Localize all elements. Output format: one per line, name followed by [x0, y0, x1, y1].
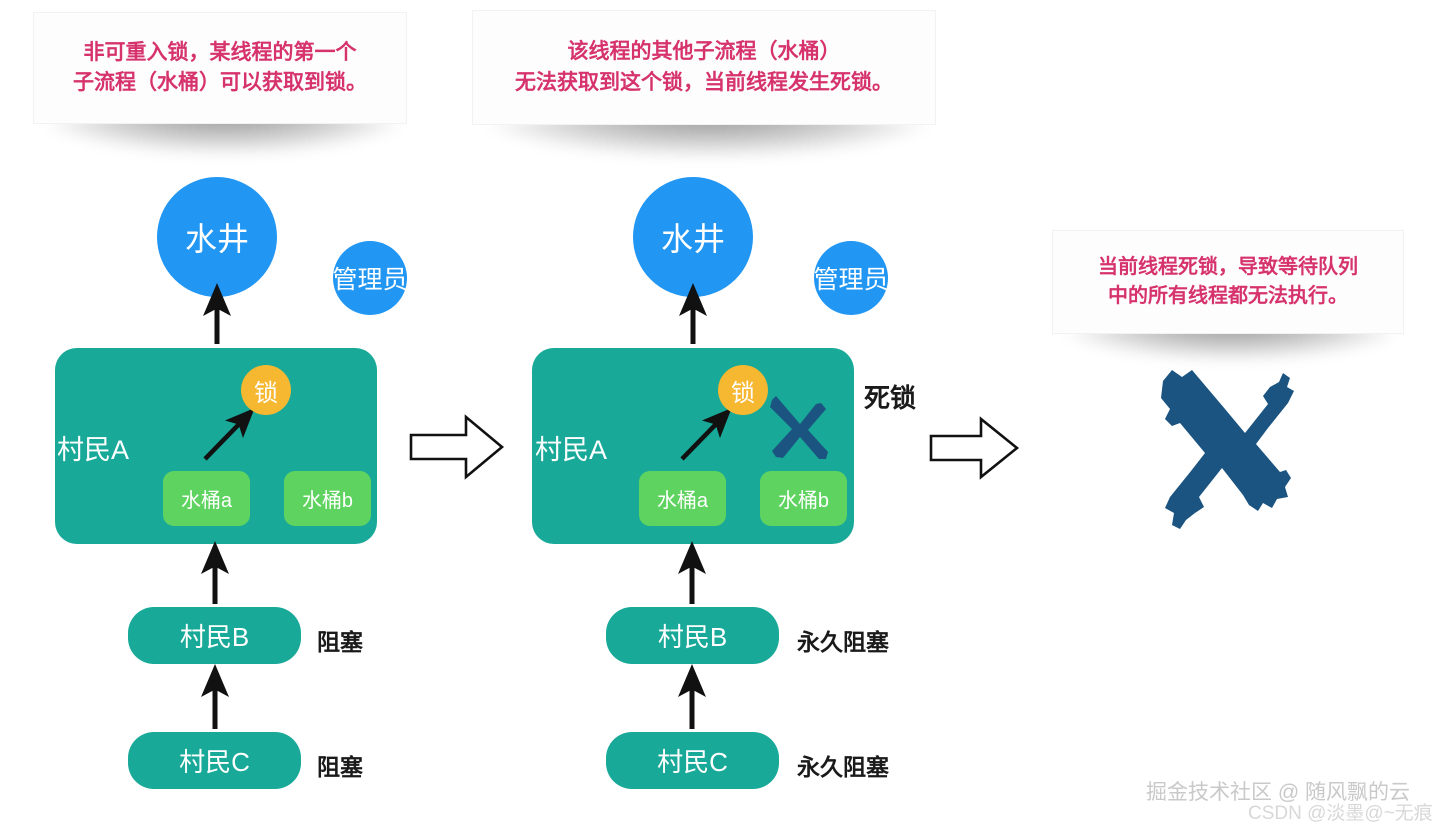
left-admin-label: 管理员	[333, 260, 408, 296]
callout-note-1: 非可重入锁，某线程的第一个 子流程（水桶）可以获取到锁。	[33, 12, 407, 124]
middle-well-label: 水井	[661, 214, 725, 260]
diagram-canvas: 非可重入锁，某线程的第一个 子流程（水桶）可以获取到锁。 该线程的其他子流程（水…	[0, 0, 1452, 826]
middle-bucket-a-label: 水桶a	[657, 484, 708, 513]
middle-bucket-b-label: 水桶b	[778, 484, 829, 513]
left-villager-b-label: 村民B	[180, 617, 249, 654]
left-villager-b-box: 村民B	[128, 607, 301, 664]
left-bucket-a-label: 水桶a	[181, 484, 232, 513]
middle-villager-a-label: 村民A	[535, 428, 607, 467]
middle-deadlock-label: 死锁	[864, 378, 916, 415]
middle-admin-label: 管理员	[814, 260, 889, 296]
left-lock-label: 锁	[254, 373, 278, 408]
callout-note-3: 当前线程死锁，导致等待队列 中的所有线程都无法执行。	[1052, 230, 1404, 334]
left-admin-circle: 管理员	[333, 241, 407, 315]
middle-admin-circle: 管理员	[814, 241, 888, 315]
note-3-line-1: 当前线程死锁，导致等待队列	[1098, 253, 1358, 282]
left-villager-c-state: 阻塞	[317, 748, 363, 782]
left-bucket-b: 水桶b	[284, 471, 371, 526]
watermark-secondary: CSDN @淡墨@~无痕	[1248, 798, 1433, 825]
left-villager-b-state: 阻塞	[317, 623, 363, 657]
note-1-line-1: 非可重入锁，某线程的第一个	[84, 38, 357, 68]
right-deadlock-cross-icon	[1161, 370, 1294, 529]
middle-villager-b-state: 永久阻塞	[797, 623, 889, 657]
middle-villager-c-box: 村民C	[606, 732, 779, 789]
note-3-line-2: 中的所有线程都无法执行。	[1108, 282, 1348, 311]
middle-well-circle: 水井	[633, 177, 753, 297]
middle-villager-b-label: 村民B	[658, 617, 727, 654]
left-villager-c-box: 村民C	[128, 732, 301, 789]
left-well-label: 水井	[185, 214, 249, 260]
middle-villager-b-box: 村民B	[606, 607, 779, 664]
left-bucket-b-label: 水桶b	[302, 484, 353, 513]
note-2-line-1: 该线程的其他子流程（水桶）	[568, 37, 841, 67]
middle-bucket-a: 水桶a	[639, 471, 726, 526]
left-well-circle: 水井	[157, 177, 277, 297]
transition-arrow-2	[931, 419, 1017, 477]
note-1-line-2: 子流程（水桶）可以获取到锁。	[73, 68, 367, 98]
middle-villager-c-label: 村民C	[657, 742, 728, 779]
middle-lock-label: 锁	[731, 373, 755, 408]
transition-arrow-1	[411, 417, 502, 477]
middle-villager-c-state: 永久阻塞	[797, 748, 889, 782]
left-bucket-a: 水桶a	[163, 471, 250, 526]
middle-lock-circle: 锁	[718, 365, 768, 415]
note-2-line-2: 无法获取到这个锁，当前线程发生死锁。	[515, 68, 893, 98]
left-villager-c-label: 村民C	[179, 742, 250, 779]
left-lock-circle: 锁	[241, 365, 291, 415]
middle-bucket-b: 水桶b	[760, 471, 847, 526]
left-villager-a-label: 村民A	[57, 428, 129, 467]
callout-note-2: 该线程的其他子流程（水桶） 无法获取到这个锁，当前线程发生死锁。	[472, 10, 936, 125]
